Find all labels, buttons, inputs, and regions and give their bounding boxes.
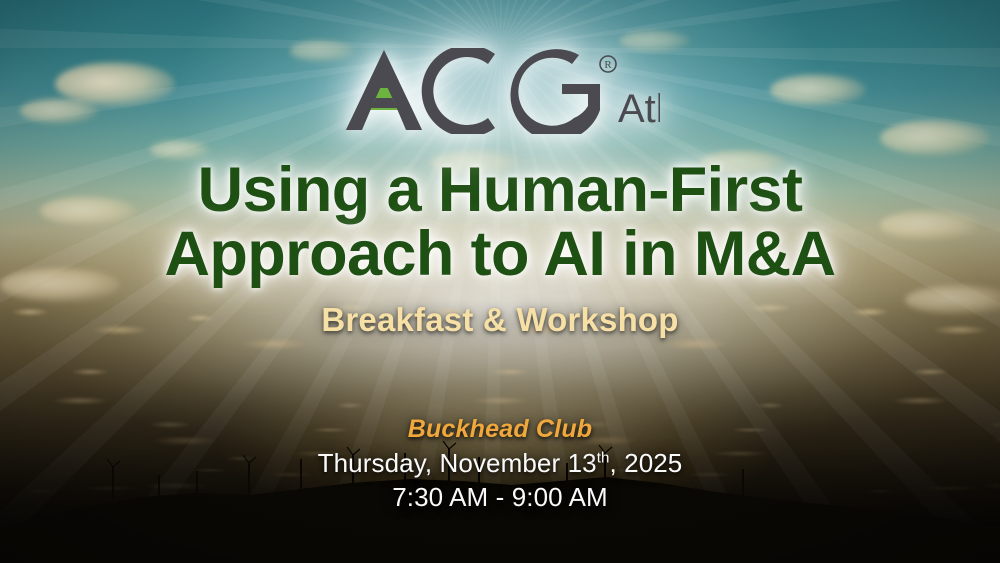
svg-text:R: R	[604, 59, 612, 71]
event-subtitle: Breakfast & Workshop	[321, 301, 678, 339]
event-date-suffix: , 2025	[609, 448, 682, 478]
event-date-prefix: Thursday, November 13	[318, 448, 597, 478]
event-title-line-2: Approach to AI in M&A	[164, 222, 835, 286]
acg-atlanta-logo: R Atlanta	[340, 48, 660, 134]
event-venue: Buckhead Club	[0, 415, 1000, 444]
event-time: 7:30 AM - 9:00 AM	[0, 482, 1000, 513]
logo-chapter-label: Atlanta	[618, 87, 660, 131]
event-title-line-1: Using a Human-First	[164, 158, 835, 222]
event-details: Buckhead Club Thursday, November 13th, 2…	[0, 415, 1000, 513]
acg-logo-icon: R Atlanta	[340, 48, 660, 134]
event-date: Thursday, November 13th, 2025	[0, 448, 1000, 479]
event-date-ordinal: th	[597, 449, 610, 466]
event-title: Using a Human-First Approach to AI in M&…	[164, 158, 835, 287]
event-banner: R Atlanta Using a Human-First Approach t…	[0, 0, 1000, 563]
